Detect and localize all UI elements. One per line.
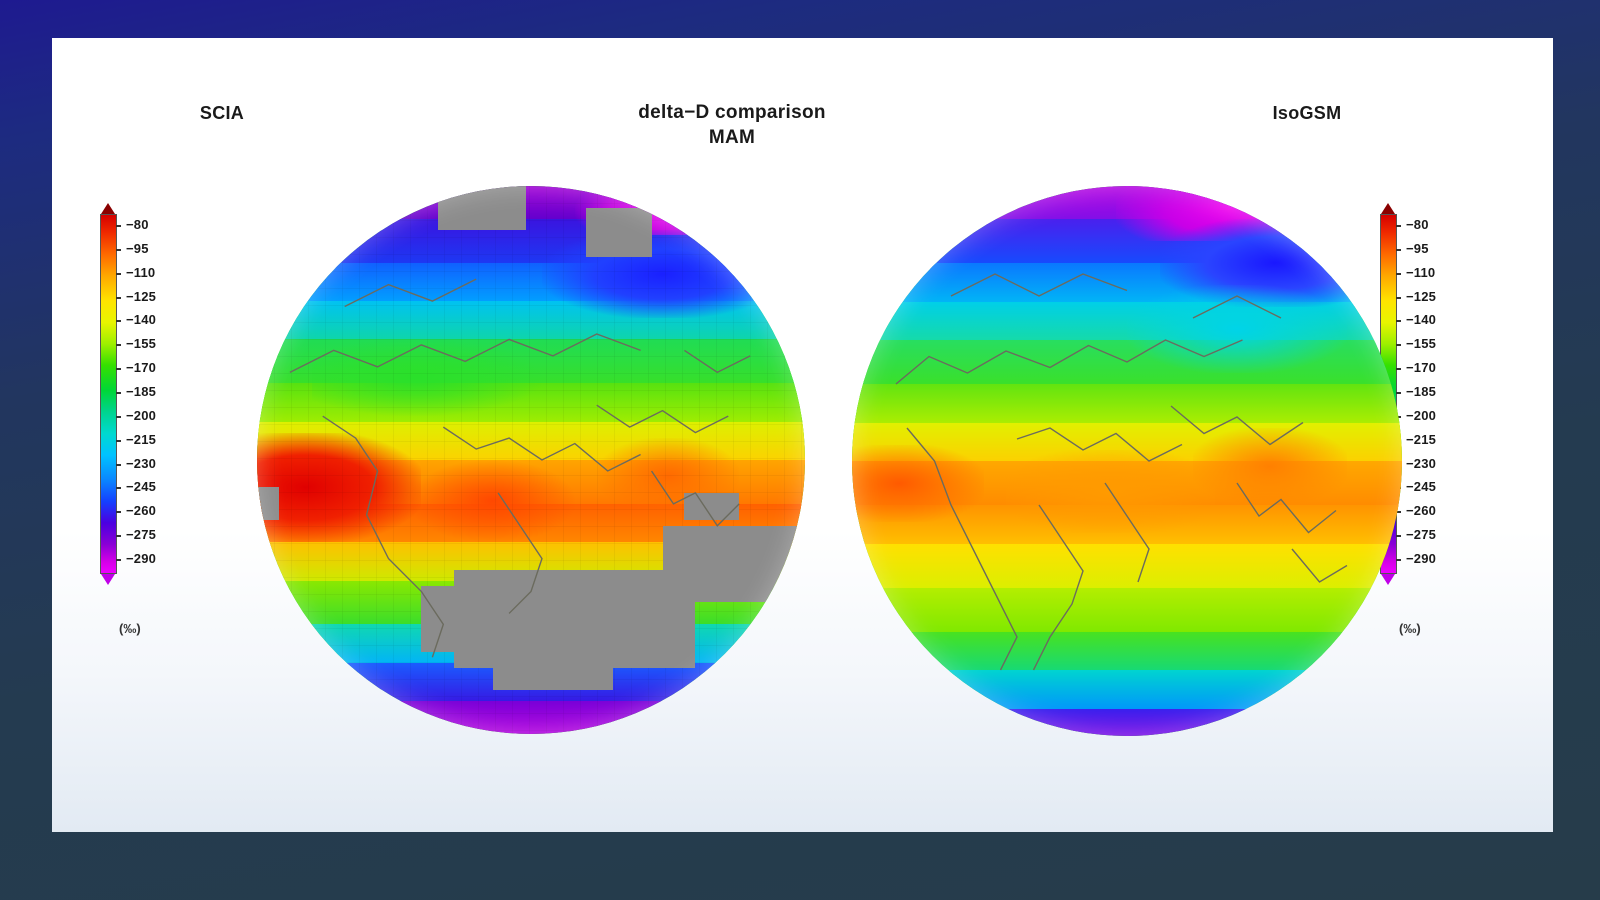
globe-scia	[257, 186, 805, 734]
colorbar-tick-label: −110	[126, 265, 155, 280]
colorbar-extend-bottom-icon	[101, 574, 115, 585]
coastlines-isogsm	[852, 186, 1402, 736]
colorbar-tick-mark	[116, 368, 121, 370]
colorbar-tick-mark	[116, 273, 121, 275]
colorbar-left-ticks: −80−95−110−125−140−155−170−185−200−215−2…	[116, 214, 216, 574]
colorbar-tick-label: −80	[126, 217, 149, 232]
colorbar-tick-label: −155	[126, 336, 156, 351]
colorbar-tick-mark	[116, 464, 121, 466]
colorbar-left-unit: (‰)	[119, 621, 141, 636]
colorbar-right-unit: (‰)	[1399, 621, 1421, 636]
colorbar-tick-mark	[116, 320, 121, 322]
slide-canvas: SCIA delta−D comparison MAM IsoGSM −80−9…	[0, 0, 1600, 900]
colorbar-tick-label: −155	[1406, 336, 1436, 351]
colorbar-tick-mark	[116, 487, 121, 489]
colorbar-tick-mark	[116, 225, 121, 227]
globe-isogsm	[852, 186, 1402, 736]
colorbar-tick-label: −185	[1406, 384, 1436, 399]
colorbar-tick-label: −95	[126, 241, 149, 256]
colorbar-tick-label: −170	[1406, 360, 1436, 375]
figure-title: delta−D comparison	[532, 100, 932, 125]
right-panel-label: IsoGSM	[1192, 103, 1422, 124]
colorbar-tick-mark	[116, 559, 121, 561]
colorbar-tick-label: −95	[1406, 241, 1429, 256]
colorbar-tick-label: −245	[1406, 479, 1436, 494]
colorbar-right-ticks: −80−95−110−125−140−155−170−185−200−215−2…	[1396, 214, 1496, 574]
coastlines-scia	[257, 186, 805, 734]
colorbar-tick-mark	[116, 392, 121, 394]
colorbar-left-gradient	[100, 214, 117, 574]
colorbar-tick-mark	[116, 249, 121, 251]
colorbar-tick-label: −215	[126, 432, 156, 447]
colorbar-tick-label: −125	[1406, 289, 1436, 304]
colorbar-tick-mark	[116, 416, 121, 418]
colorbar-tick-label: −290	[1406, 551, 1436, 566]
colorbar-tick-mark	[116, 511, 121, 513]
colorbar-tick-label: −230	[126, 456, 156, 471]
figure-subtitle: MAM	[532, 125, 932, 150]
colorbar-tick-label: −110	[1406, 265, 1435, 280]
colorbar-tick-label: −290	[126, 551, 156, 566]
colorbar-tick-mark	[116, 535, 121, 537]
colorbar-tick-label: −275	[126, 527, 156, 542]
colorbar-left: −80−95−110−125−140−155−170−185−200−215−2…	[97, 203, 217, 585]
colorbar-tick-label: −215	[1406, 432, 1436, 447]
colorbar-tick-label: −260	[126, 503, 156, 518]
colorbar-tick-label: −230	[1406, 456, 1436, 471]
colorbar-tick-label: −200	[126, 408, 156, 423]
colorbar-tick-label: −200	[1406, 408, 1436, 423]
figure-panel: SCIA delta−D comparison MAM IsoGSM −80−9…	[52, 38, 1553, 832]
colorbar-tick-label: −125	[126, 289, 156, 304]
colorbar-tick-mark	[116, 440, 121, 442]
colorbar-tick-label: −275	[1406, 527, 1436, 542]
colorbar-tick-mark	[116, 297, 121, 299]
figure-title-block: delta−D comparison MAM	[532, 100, 932, 150]
colorbar-tick-label: −80	[1406, 217, 1429, 232]
colorbar-left-stack: −80−95−110−125−140−155−170−185−200−215−2…	[97, 203, 119, 585]
colorbar-tick-label: −245	[126, 479, 156, 494]
colorbar-tick-label: −185	[126, 384, 156, 399]
colorbar-tick-label: −140	[1406, 312, 1436, 327]
colorbar-tick-label: −140	[126, 312, 156, 327]
left-panel-label: SCIA	[112, 103, 332, 124]
colorbar-extend-top-icon	[101, 203, 115, 214]
colorbar-tick-label: −170	[126, 360, 156, 375]
colorbar-tick-label: −260	[1406, 503, 1436, 518]
colorbar-tick-mark	[116, 344, 121, 346]
